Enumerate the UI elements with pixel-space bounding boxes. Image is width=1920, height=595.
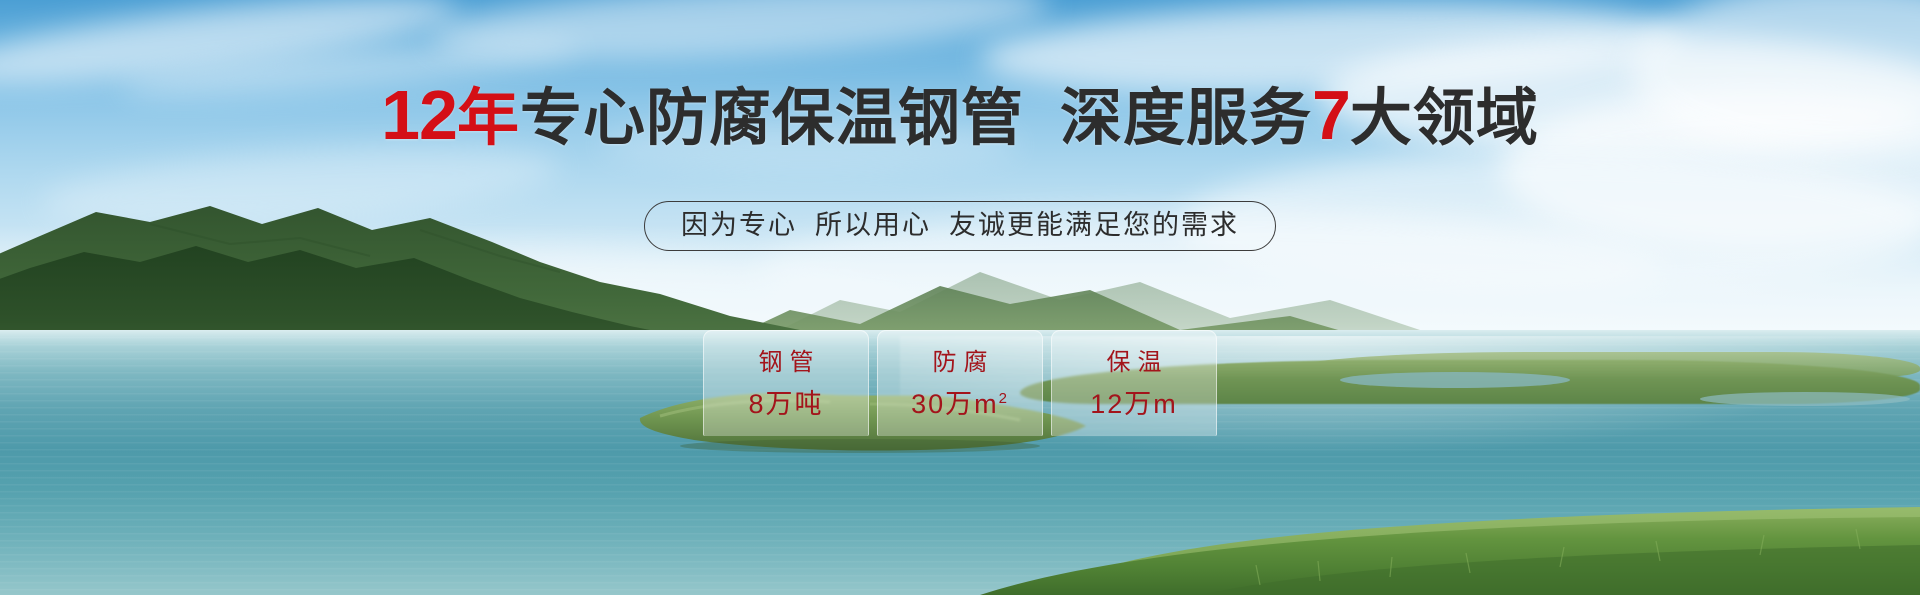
stat-card-label: 钢管 xyxy=(752,350,821,376)
stat-card-value: 30万m2 xyxy=(911,390,1009,418)
stat-card-anticorrosion: 防腐 30万m2 xyxy=(877,330,1043,436)
headline-fields-number: 7 xyxy=(1312,76,1350,154)
headline-years-number: 12 xyxy=(381,76,457,154)
headline-fields-text: 大领域 xyxy=(1350,84,1539,153)
stat-card-value-superscript: 2 xyxy=(999,390,1009,407)
headline-years-unit: 年 xyxy=(457,84,520,153)
stat-card-label: 防腐 xyxy=(926,350,995,376)
stat-card-insulation: 保温 12万m xyxy=(1051,330,1217,436)
subtitle-part-1: 因为专心 xyxy=(681,210,797,240)
subtitle-part-2: 所以用心 xyxy=(815,210,931,240)
stat-card-value-text: 8万吨 xyxy=(748,389,823,419)
stat-card-label: 保温 xyxy=(1100,350,1169,376)
headline-main-text: 专心防腐保温钢管 xyxy=(520,84,1024,153)
stat-card-value-text: 12万m xyxy=(1090,389,1178,419)
stat-card-value-text: 30万m xyxy=(911,389,999,419)
page-title: 12年专心防腐保温钢管深度服务7大领域 xyxy=(0,84,1920,150)
stat-card-value: 12万m xyxy=(1090,390,1178,418)
promo-banner: 12年专心防腐保温钢管深度服务7大领域 因为专心所以用心友诚更能满足您的需求 钢… xyxy=(0,0,1920,595)
headline-service-text: 深度服务 xyxy=(1060,84,1312,153)
stat-card-value: 8万吨 xyxy=(748,390,823,418)
stat-card-group: 钢管 8万吨 防腐 30万m2 保温 12万m xyxy=(703,330,1217,436)
banner-content: 12年专心防腐保温钢管深度服务7大领域 因为专心所以用心友诚更能满足您的需求 钢… xyxy=(0,0,1920,595)
subtitle-pill: 因为专心所以用心友诚更能满足您的需求 xyxy=(644,201,1276,251)
subtitle-part-3: 友诚更能满足您的需求 xyxy=(949,210,1239,240)
stat-card-steel-pipe: 钢管 8万吨 xyxy=(703,330,869,436)
